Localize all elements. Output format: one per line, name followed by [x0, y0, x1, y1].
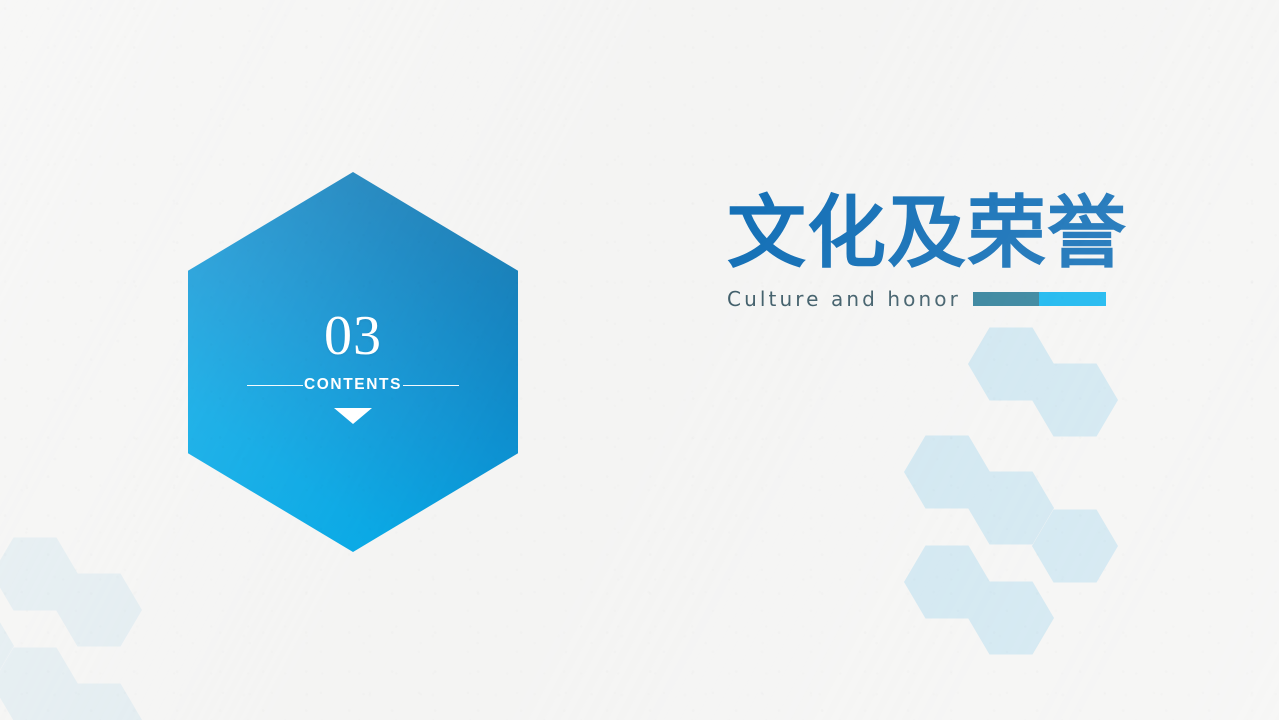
- triangle-down-icon: [334, 408, 372, 424]
- section-hexagon-badge: 03 CONTENTS: [188, 172, 518, 552]
- contents-label-row: CONTENTS: [188, 376, 518, 394]
- slide-canvas: 03 CONTENTS 文化及荣誉 Culture and honor: [0, 0, 1279, 720]
- title-block: 文化及荣誉 Culture and honor: [727, 192, 1127, 311]
- page-subtitle: Culture and honor: [727, 287, 961, 311]
- rule-right: [403, 385, 459, 386]
- rule-left: [247, 385, 303, 386]
- accent-bar-segment-right: [1039, 292, 1106, 306]
- honeycomb-decoration-right: [860, 322, 1240, 662]
- contents-label: CONTENTS: [303, 376, 403, 394]
- accent-bar-segment-left: [973, 292, 1040, 306]
- hexagon-content: 03 CONTENTS: [188, 172, 518, 552]
- section-number: 03: [324, 308, 382, 364]
- subtitle-row: Culture and honor: [727, 287, 1127, 311]
- accent-bar: [973, 292, 1106, 306]
- honeycomb-decoration-left: [0, 530, 232, 720]
- page-title: 文化及荣誉: [727, 192, 1127, 275]
